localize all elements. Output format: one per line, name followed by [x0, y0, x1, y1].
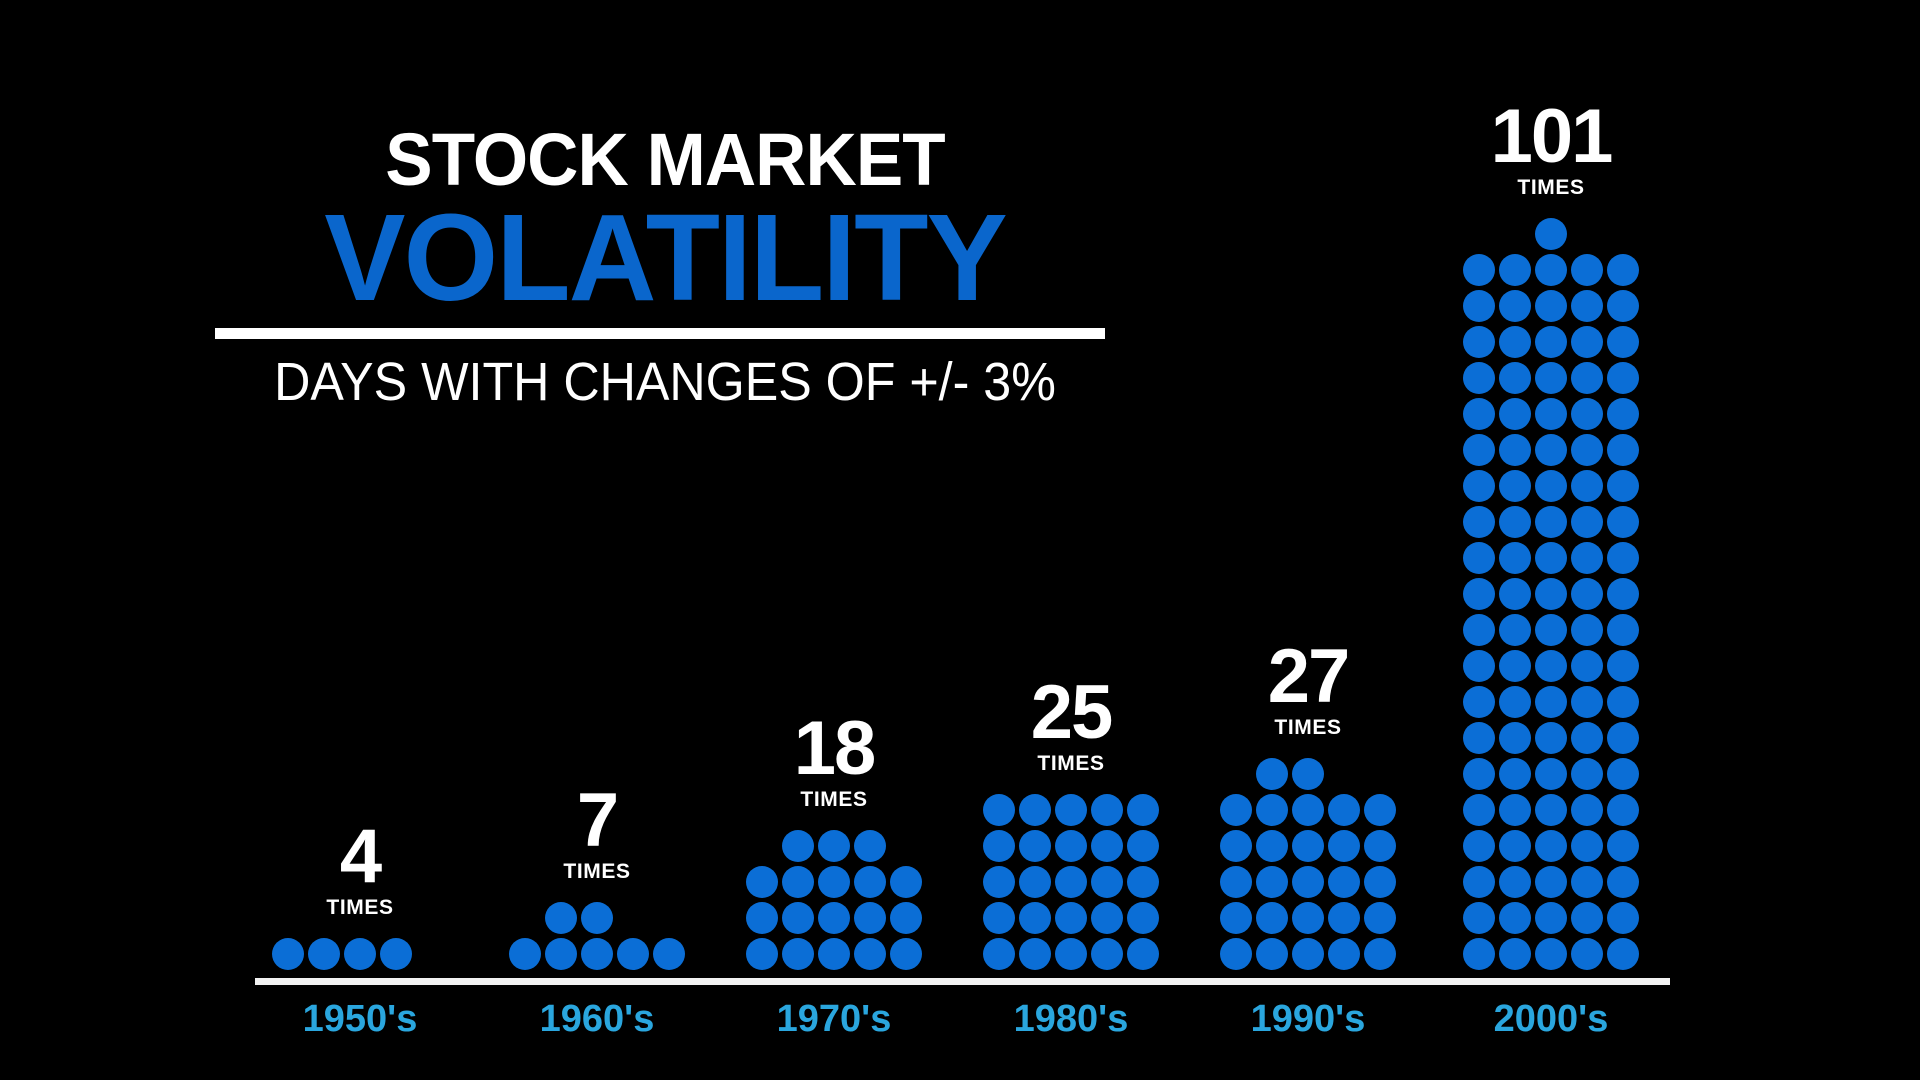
data-dot: [1499, 326, 1531, 358]
data-dot: [1499, 794, 1531, 826]
data-dot: [1463, 866, 1495, 898]
dot-cell-spacer: [1499, 218, 1531, 250]
column-value: 18: [794, 716, 875, 781]
dot-cell-filled: [1533, 756, 1569, 792]
data-dot: [1292, 758, 1324, 790]
data-dot: [1328, 794, 1360, 826]
data-dot: [1055, 902, 1087, 934]
dot-row: [1461, 396, 1641, 432]
dot-cell-spacer: [509, 902, 541, 934]
dot-cell-filled: [1533, 648, 1569, 684]
dot-row: [270, 936, 450, 972]
dot-cell-filled: [1125, 936, 1161, 972]
dot-cell-filled: [816, 828, 852, 864]
dot-row: [744, 828, 924, 864]
dot-cell-filled: [1461, 828, 1497, 864]
data-dot: [1607, 830, 1639, 862]
data-dot: [1463, 578, 1495, 610]
dot-cell-filled: [1290, 936, 1326, 972]
dot-cell-empty: [1605, 216, 1641, 252]
dot-cell-filled: [1569, 576, 1605, 612]
dot-cell-filled: [780, 864, 816, 900]
dot-cell-filled: [981, 900, 1017, 936]
dot-cell-filled: [1461, 252, 1497, 288]
data-dot: [1571, 614, 1603, 646]
dot-row: [1461, 684, 1641, 720]
data-dot: [782, 902, 814, 934]
data-dot: [1535, 866, 1567, 898]
data-dot: [1328, 938, 1360, 970]
data-dot: [1535, 470, 1567, 502]
dot-cell-filled: [1290, 756, 1326, 792]
data-dot: [1607, 866, 1639, 898]
dot-cell-filled: [1017, 828, 1053, 864]
dot-cell-filled: [1254, 936, 1290, 972]
dot-row: [1461, 900, 1641, 936]
dot-cell-filled: [1533, 360, 1569, 396]
dot-cell-filled: [1605, 936, 1641, 972]
dot-row: [1218, 756, 1398, 792]
dot-cell-filled: [1053, 936, 1089, 972]
data-dot: [1463, 614, 1495, 646]
chart-column-1960s: 7TIMES: [507, 788, 687, 972]
dot-row: [981, 900, 1161, 936]
data-dot: [545, 902, 577, 934]
dot-cell-filled: [1569, 756, 1605, 792]
dot-cell-spacer: [1364, 758, 1396, 790]
dot-cell-filled: [1533, 468, 1569, 504]
dot-cell-filled: [1254, 900, 1290, 936]
dot-cell-filled: [1569, 252, 1605, 288]
data-dot: [1499, 686, 1531, 718]
dot-cell-filled: [1017, 900, 1053, 936]
dot-cell-filled: [1569, 432, 1605, 468]
data-dot: [1535, 434, 1567, 466]
data-dot: [1256, 866, 1288, 898]
dot-cell-filled: [1461, 468, 1497, 504]
data-dot: [782, 938, 814, 970]
decade-label-1950s: 1950's: [303, 998, 418, 1041]
dot-cell-filled: [1461, 288, 1497, 324]
dot-cell-filled: [1497, 864, 1533, 900]
dot-cell-filled: [507, 936, 543, 972]
data-dot: [1535, 686, 1567, 718]
dot-cell-empty: [744, 828, 780, 864]
data-dot: [1607, 326, 1639, 358]
data-dot: [1256, 938, 1288, 970]
dot-cell-spacer: [1607, 218, 1639, 250]
dot-cell-filled: [1569, 792, 1605, 828]
data-dot: [1499, 902, 1531, 934]
data-dot: [854, 938, 886, 970]
data-dot: [380, 938, 412, 970]
dot-cell-filled: [306, 936, 342, 972]
data-dot: [653, 938, 685, 970]
data-dot: [1127, 794, 1159, 826]
data-dot: [818, 938, 850, 970]
dot-cell-filled: [1605, 648, 1641, 684]
data-dot: [1091, 830, 1123, 862]
dot-cell-filled: [1362, 936, 1398, 972]
dot-cell-filled: [744, 936, 780, 972]
chart-column-1950s: 4TIMES: [270, 824, 450, 972]
data-dot: [890, 902, 922, 934]
dot-cell-filled: [1461, 684, 1497, 720]
data-dot: [1535, 578, 1567, 610]
dot-row: [1461, 540, 1641, 576]
decade-label-1970s: 1970's: [777, 998, 892, 1041]
dot-cell-filled: [1569, 900, 1605, 936]
data-dot: [854, 866, 886, 898]
data-dot: [983, 902, 1015, 934]
dot-cell-filled: [1569, 288, 1605, 324]
dot-row: [1461, 720, 1641, 756]
data-dot: [1535, 254, 1567, 286]
dot-cell-filled: [1497, 468, 1533, 504]
dot-cell-filled: [1326, 936, 1362, 972]
dot-cell-filled: [1089, 936, 1125, 972]
column-value: 7: [577, 788, 617, 853]
decade-label-1990s: 1990's: [1251, 998, 1366, 1041]
dot-cell-filled: [1089, 828, 1125, 864]
dot-cell-filled: [342, 936, 378, 972]
dot-cell-empty: [414, 936, 450, 972]
data-dot: [1535, 722, 1567, 754]
data-dot: [1571, 326, 1603, 358]
dot-row: [1218, 792, 1398, 828]
dot-cell-empty: [1461, 216, 1497, 252]
data-dot: [1499, 578, 1531, 610]
data-dot: [1292, 866, 1324, 898]
dot-stack: [270, 936, 450, 972]
data-dot: [1499, 830, 1531, 862]
data-dot: [1256, 758, 1288, 790]
dot-row: [1218, 864, 1398, 900]
data-dot: [1220, 794, 1252, 826]
dot-cell-filled: [1497, 360, 1533, 396]
data-dot: [1607, 614, 1639, 646]
column-unit-label: TIMES: [800, 788, 867, 812]
data-dot: [1220, 830, 1252, 862]
data-dot: [1127, 830, 1159, 862]
dot-cell-filled: [981, 864, 1017, 900]
column-unit-label: TIMES: [1517, 176, 1584, 200]
data-dot: [1499, 398, 1531, 430]
data-dot: [272, 938, 304, 970]
data-dot: [854, 830, 886, 862]
dot-cell-filled: [1362, 900, 1398, 936]
dot-cell-filled: [579, 936, 615, 972]
data-dot: [854, 902, 886, 934]
data-dot: [1607, 254, 1639, 286]
data-dot: [1499, 470, 1531, 502]
dot-cell-filled: [1326, 900, 1362, 936]
dot-stack: [1461, 216, 1641, 972]
data-dot: [1607, 578, 1639, 610]
dot-row: [744, 936, 924, 972]
data-dot: [890, 938, 922, 970]
dot-cell-filled: [1461, 432, 1497, 468]
dot-cell-filled: [1497, 648, 1533, 684]
dot-cell-filled: [852, 828, 888, 864]
data-dot: [1499, 866, 1531, 898]
data-dot: [1463, 830, 1495, 862]
dot-row: [1461, 468, 1641, 504]
data-dot: [1256, 794, 1288, 826]
dot-cell-filled: [1605, 288, 1641, 324]
data-dot: [1607, 902, 1639, 934]
data-dot: [1535, 506, 1567, 538]
chart-column-1970s: 18TIMES: [744, 716, 924, 972]
column-value: 25: [1031, 680, 1112, 745]
data-dot: [1535, 938, 1567, 970]
data-dot: [1463, 938, 1495, 970]
dot-cell-filled: [852, 936, 888, 972]
dot-cell-filled: [816, 936, 852, 972]
dot-row: [1461, 252, 1641, 288]
dot-cell-filled: [888, 864, 924, 900]
dot-cell-filled: [1461, 540, 1497, 576]
data-dot: [1499, 542, 1531, 574]
data-dot: [1535, 830, 1567, 862]
data-dot: [1607, 722, 1639, 754]
data-dot: [1607, 362, 1639, 394]
data-dot: [1463, 722, 1495, 754]
data-dot: [1220, 938, 1252, 970]
data-dot: [1571, 254, 1603, 286]
dot-cell-filled: [1569, 360, 1605, 396]
data-dot: [581, 902, 613, 934]
dot-row: [1461, 864, 1641, 900]
dot-cell-filled: [1497, 432, 1533, 468]
data-dot: [1607, 434, 1639, 466]
data-dot: [1535, 398, 1567, 430]
dot-cell-empty: [1569, 216, 1605, 252]
dot-cell-filled: [1605, 504, 1641, 540]
dot-cell-filled: [1497, 828, 1533, 864]
data-dot: [1499, 506, 1531, 538]
dot-row: [1218, 828, 1398, 864]
dot-cell-filled: [1605, 324, 1641, 360]
data-dot: [890, 866, 922, 898]
dot-cell-filled: [1461, 900, 1497, 936]
dot-cell-filled: [1605, 684, 1641, 720]
data-dot: [1328, 830, 1360, 862]
data-dot: [1364, 794, 1396, 826]
data-dot: [1256, 830, 1288, 862]
data-dot: [1535, 614, 1567, 646]
data-dot: [1463, 398, 1495, 430]
dot-cell-filled: [1569, 864, 1605, 900]
dot-cell-filled: [270, 936, 306, 972]
data-dot: [1571, 866, 1603, 898]
dot-cell-filled: [1569, 684, 1605, 720]
dot-cell-filled: [1605, 432, 1641, 468]
data-dot: [1091, 866, 1123, 898]
dot-cell-filled: [1605, 576, 1641, 612]
data-dot: [1571, 902, 1603, 934]
dot-cell-filled: [1254, 792, 1290, 828]
data-dot: [1571, 686, 1603, 718]
dot-cell-filled: [1497, 324, 1533, 360]
data-dot: [746, 902, 778, 934]
chart-column-2000s: 101TIMES: [1461, 104, 1641, 972]
dot-row: [1461, 936, 1641, 972]
dot-cell-empty: [615, 900, 651, 936]
dot-cell-spacer: [653, 902, 685, 934]
dot-cell-filled: [1053, 792, 1089, 828]
dot-cell-filled: [1362, 792, 1398, 828]
dot-cell-spacer: [890, 830, 922, 862]
data-dot: [1571, 362, 1603, 394]
data-dot: [1535, 290, 1567, 322]
dot-cell-filled: [1218, 900, 1254, 936]
dot-cell-filled: [1497, 540, 1533, 576]
data-dot: [746, 938, 778, 970]
dot-cell-filled: [1497, 504, 1533, 540]
data-dot: [1571, 470, 1603, 502]
dot-cell-empty: [1218, 756, 1254, 792]
data-dot: [983, 938, 1015, 970]
dot-cell-spacer: [416, 938, 448, 970]
data-dot: [1055, 794, 1087, 826]
data-dot: [344, 938, 376, 970]
chart-baseline-axis: [255, 978, 1670, 985]
column-unit-label: TIMES: [1274, 716, 1341, 740]
data-dot: [1019, 866, 1051, 898]
dot-row: [1461, 324, 1641, 360]
column-value: 101: [1491, 104, 1612, 169]
data-dot: [1463, 254, 1495, 286]
data-dot: [1292, 902, 1324, 934]
dot-cell-filled: [1605, 396, 1641, 432]
dot-cell-filled: [1125, 828, 1161, 864]
dot-row: [744, 864, 924, 900]
data-dot: [1463, 794, 1495, 826]
dot-cell-filled: [888, 900, 924, 936]
data-dot: [1571, 758, 1603, 790]
data-dot: [1463, 758, 1495, 790]
data-dot: [1364, 938, 1396, 970]
dot-row: [1218, 936, 1398, 972]
dot-row: [1461, 360, 1641, 396]
dot-cell-filled: [1362, 828, 1398, 864]
data-dot: [1571, 830, 1603, 862]
data-dot: [1292, 830, 1324, 862]
dot-cell-filled: [1017, 864, 1053, 900]
dot-cell-filled: [1497, 612, 1533, 648]
dot-row: [1461, 288, 1641, 324]
data-dot: [1571, 398, 1603, 430]
dot-row: [1461, 504, 1641, 540]
infographic-canvas: STOCK MARKET VOLATILITY DAYS WITH CHANGE…: [0, 0, 1920, 1080]
data-dot: [1607, 686, 1639, 718]
data-dot: [1463, 434, 1495, 466]
data-dot: [1499, 254, 1531, 286]
dot-cell-filled: [1605, 612, 1641, 648]
data-dot: [509, 938, 541, 970]
dot-row: [1461, 828, 1641, 864]
dot-cell-filled: [1461, 396, 1497, 432]
dot-cell-filled: [1605, 360, 1641, 396]
dot-cell-filled: [543, 900, 579, 936]
dot-cell-filled: [816, 864, 852, 900]
dot-cell-filled: [543, 936, 579, 972]
dot-cell-filled: [378, 936, 414, 972]
dot-cell-filled: [1461, 360, 1497, 396]
dot-row: [981, 828, 1161, 864]
dot-stack: [507, 900, 687, 972]
dot-cell-filled: [1254, 756, 1290, 792]
dot-cell-filled: [1497, 684, 1533, 720]
data-dot: [1328, 866, 1360, 898]
dot-stack: [981, 792, 1161, 972]
dot-cell-spacer: [746, 830, 778, 862]
dot-stack: [744, 828, 924, 972]
data-dot: [1463, 542, 1495, 574]
dot-cell-spacer: [1571, 218, 1603, 250]
data-dot: [1535, 542, 1567, 574]
dot-cell-filled: [579, 900, 615, 936]
dot-row: [1461, 576, 1641, 612]
dot-cell-filled: [1569, 504, 1605, 540]
data-dot: [1499, 434, 1531, 466]
dot-row: [1461, 648, 1641, 684]
data-dot: [983, 866, 1015, 898]
dot-cell-filled: [1605, 828, 1641, 864]
dot-cell-filled: [852, 900, 888, 936]
decade-label-1960s: 1960's: [540, 998, 655, 1041]
dot-cell-filled: [1569, 324, 1605, 360]
dot-cell-filled: [981, 936, 1017, 972]
column-unit-label: TIMES: [1037, 752, 1104, 776]
dot-row: [981, 792, 1161, 828]
chart-column-1980s: 25TIMES: [981, 680, 1161, 972]
dot-cell-filled: [1089, 900, 1125, 936]
dot-cell-filled: [1569, 720, 1605, 756]
dot-cell-empty: [651, 900, 687, 936]
dot-cell-filled: [1125, 792, 1161, 828]
dot-cell-filled: [1605, 468, 1641, 504]
dot-cell-filled: [1533, 252, 1569, 288]
data-dot: [983, 794, 1015, 826]
data-dot: [1535, 218, 1567, 250]
dot-row: [1461, 432, 1641, 468]
data-dot: [1571, 938, 1603, 970]
data-dot: [581, 938, 613, 970]
data-dot: [782, 866, 814, 898]
dot-cell-filled: [1326, 828, 1362, 864]
dot-cell-filled: [1533, 792, 1569, 828]
dot-cell-spacer: [1328, 758, 1360, 790]
dot-cell-filled: [1497, 576, 1533, 612]
dot-cell-filled: [981, 792, 1017, 828]
dot-row: [1461, 756, 1641, 792]
dot-cell-filled: [780, 936, 816, 972]
dot-cell-filled: [615, 936, 651, 972]
data-dot: [1535, 902, 1567, 934]
dot-cell-filled: [1533, 576, 1569, 612]
decade-axis-labels: 1950's1960's1970's1980's1990's2000's: [0, 998, 1920, 1048]
dot-cell-filled: [1533, 432, 1569, 468]
data-dot: [1571, 722, 1603, 754]
dot-cell-filled: [1089, 792, 1125, 828]
dot-cell-filled: [1533, 540, 1569, 576]
dot-cell-empty: [507, 900, 543, 936]
dot-cell-filled: [1125, 900, 1161, 936]
data-dot: [1463, 506, 1495, 538]
dot-cell-filled: [1218, 936, 1254, 972]
